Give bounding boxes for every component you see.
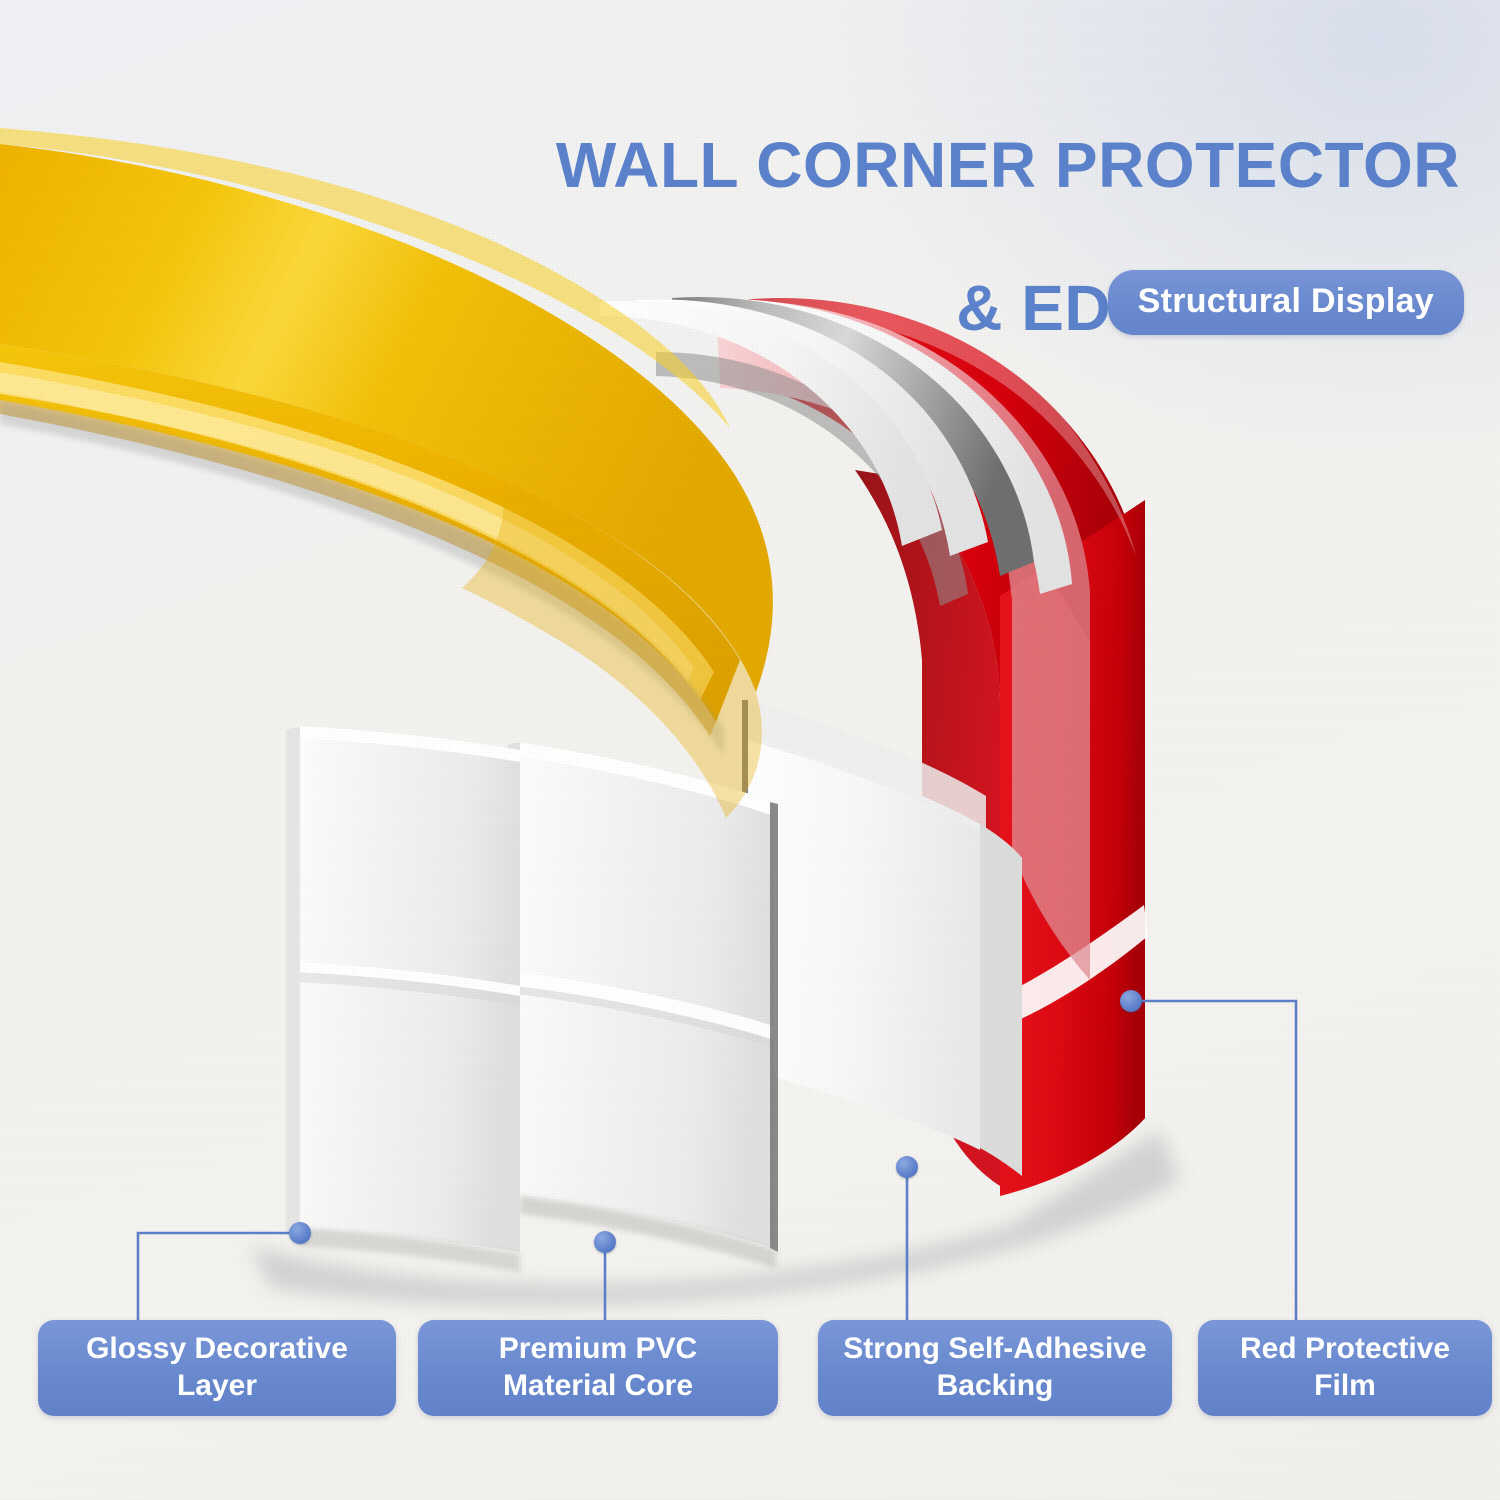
callout-dot-pvc: [594, 1231, 616, 1253]
callout-dot-glossy: [289, 1222, 311, 1244]
callout-label-pvc-text: Premium PVC Material Core: [428, 1331, 768, 1404]
callout-label-adhesive: Strong Self-Adhesive Backing: [818, 1320, 1172, 1416]
callout-label-glossy-text: Glossy Decorative Layer: [48, 1331, 386, 1404]
callout-label-film-text: Red Protective Film: [1208, 1331, 1482, 1404]
callout-label-adhesive-text: Strong Self-Adhesive Backing: [828, 1331, 1162, 1404]
callout-label-film: Red Protective Film: [1198, 1320, 1492, 1416]
structural-display-badge: Structural Display: [1108, 270, 1464, 335]
callout-label-glossy: Glossy Decorative Layer: [38, 1320, 396, 1416]
callout-dot-film: [1120, 990, 1142, 1012]
callout-label-pvc: Premium PVC Material Core: [418, 1320, 778, 1416]
page-title: WALL CORNER PROTECTOR & EDGE GUARD: [0, 58, 1460, 416]
callout-dot-adhesive: [896, 1156, 918, 1178]
infographic-canvas: WALL CORNER PROTECTOR & EDGE GUARD Struc…: [0, 0, 1500, 1500]
title-line-1: WALL CORNER PROTECTOR: [0, 130, 1460, 202]
